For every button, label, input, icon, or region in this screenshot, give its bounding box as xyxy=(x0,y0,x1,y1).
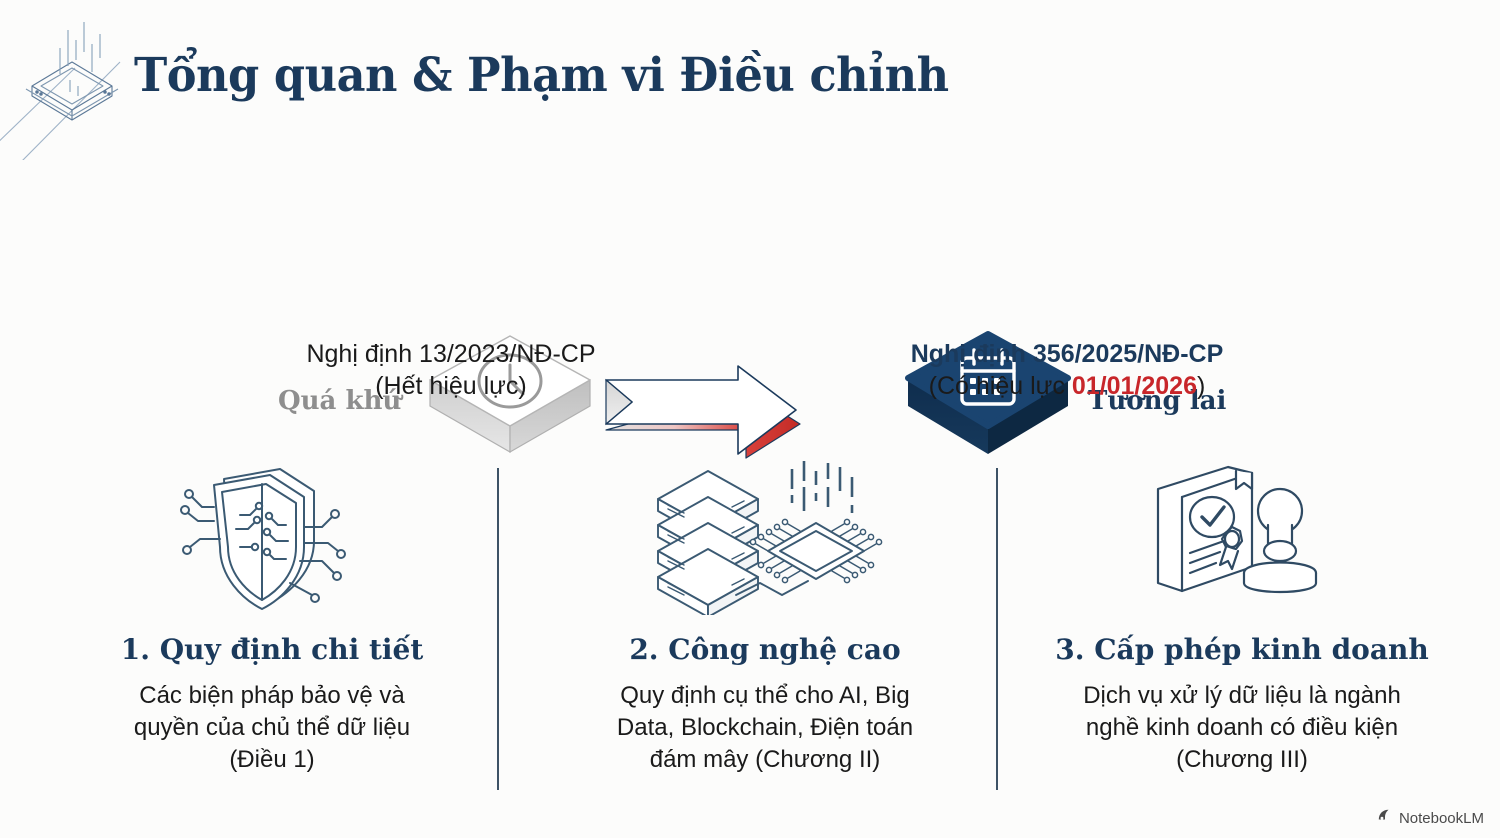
feature-columns: 1. Quy định chi tiết Các biện pháp bảo v… xyxy=(0,455,1500,815)
future-caption-suffix: ) xyxy=(1197,372,1205,400)
feature-2-body-line-2: Data, Blockchain, Điện toán xyxy=(555,712,975,744)
future-caption-prefix: (Có hiệu lực xyxy=(929,372,1072,400)
feature-3-heading: 3. Cấp phép kinh doanh xyxy=(1032,633,1452,666)
past-caption-line1: Nghị định 13/2023/NĐ-CP xyxy=(236,338,666,370)
feature-1-body-line-2: quyền của chủ thể dữ liệu xyxy=(62,712,482,744)
past-caption: Nghị định 13/2023/NĐ-CP (Hết hiệu lực) xyxy=(236,338,666,402)
past-caption-line2: (Hết hiệu lực) xyxy=(236,370,666,402)
feature-1-heading: 1. Quy định chi tiết xyxy=(62,633,482,666)
slide-canvas: Tổng quan & Phạm vi Điều chỉnh Quá khứ xyxy=(0,0,1500,838)
effective-date: 01/01/2026 xyxy=(1072,372,1197,400)
column-divider-1 xyxy=(497,468,499,790)
feature-3-body-line-2: nghề kinh doanh có điều kiện xyxy=(1032,712,1452,744)
future-caption-line1: Nghị định 356/2025/NĐ-CP xyxy=(852,338,1282,370)
notebooklm-label: NotebookLM xyxy=(1399,810,1484,827)
column-divider-2 xyxy=(996,468,998,790)
feature-2-body-line-3: đám mây (Chương II) xyxy=(555,744,975,776)
future-caption: Nghị định 356/2025/NĐ-CP (Có hiệu lực 01… xyxy=(852,338,1282,402)
feature-column-3: 3. Cấp phép kinh doanh Dịch vụ xử lý dữ … xyxy=(1032,455,1452,776)
feature-2-heading: 2. Công nghệ cao xyxy=(555,633,975,666)
server-chip-icon xyxy=(555,455,975,615)
feature-2-body-line-1: Quy định cụ thể cho AI, Big xyxy=(555,680,975,712)
feature-column-1: 1. Quy định chi tiết Các biện pháp bảo v… xyxy=(62,455,482,776)
feature-3-body-line-3: (Chương III) xyxy=(1032,744,1452,776)
certificate-stamp-icon xyxy=(1032,455,1452,615)
shield-circuit-icon xyxy=(62,455,482,615)
feature-column-2: 2. Công nghệ cao Quy định cụ thể cho AI,… xyxy=(555,455,975,776)
feature-1-body-line-1: Các biện pháp bảo vệ và xyxy=(62,680,482,712)
feature-1-body: Các biện pháp bảo vệ và quyền của chủ th… xyxy=(62,680,482,776)
notebooklm-icon xyxy=(1377,808,1393,828)
notebooklm-watermark: NotebookLM xyxy=(1377,808,1484,828)
feature-3-body: Dịch vụ xử lý dữ liệu là ngành nghề kinh… xyxy=(1032,680,1452,776)
future-caption-line2: (Có hiệu lực 01/01/2026) xyxy=(852,370,1282,402)
feature-1-body-line-3: (Điều 1) xyxy=(62,744,482,776)
page-title: Tổng quan & Phạm vi Điều chỉnh xyxy=(134,48,949,103)
feature-3-body-line-1: Dịch vụ xử lý dữ liệu là ngành xyxy=(1032,680,1452,712)
feature-2-body: Quy định cụ thể cho AI, Big Data, Blockc… xyxy=(555,680,975,776)
